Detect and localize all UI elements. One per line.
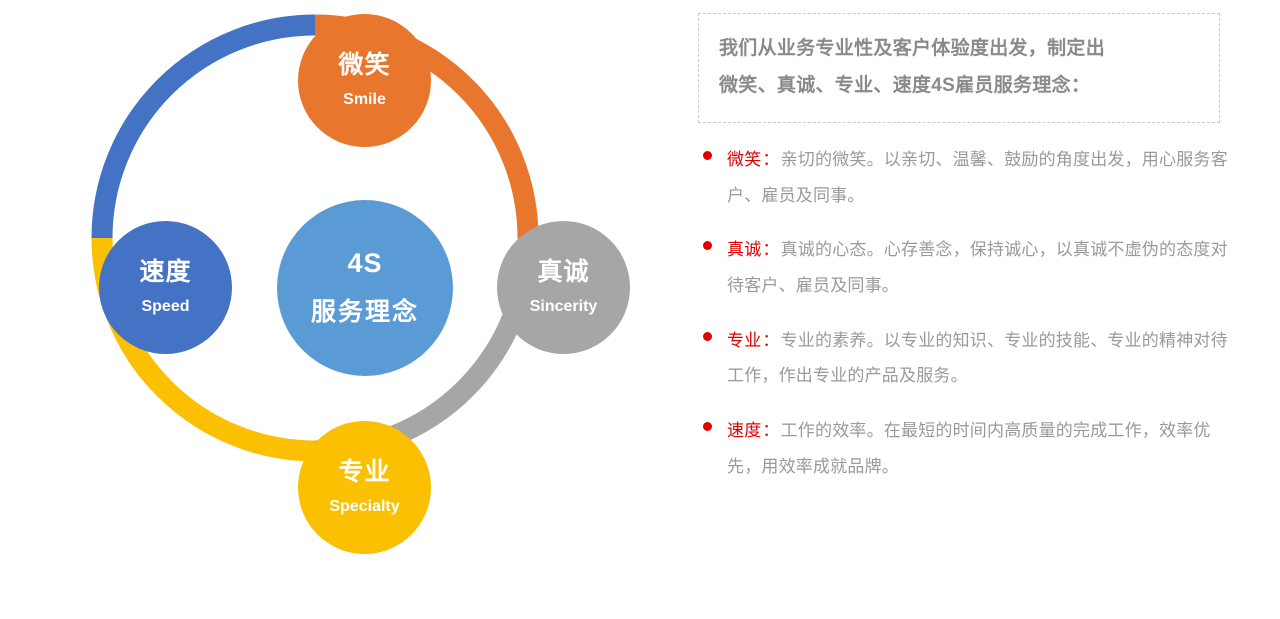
bullet-sep-sincerity: ： xyxy=(762,240,779,259)
node-specialty-label-cn: 专业 xyxy=(338,459,390,487)
node-specialty-label-en: Specialty xyxy=(329,498,399,516)
node-sincerity[interactable]: 真诚 Sincerity xyxy=(497,221,630,354)
center-subtitle: 服务理念 xyxy=(311,299,419,327)
node-smile-label-cn: 微笑 xyxy=(338,52,390,80)
bullet-dot-icon xyxy=(703,151,712,160)
node-specialty[interactable]: 专业 Specialty xyxy=(298,421,431,554)
bullet-text-sincerity: 真诚：真诚的心态。心存善念，保持诚心，以真诚不虚伪的态度对待客户、雇员及同事。 xyxy=(727,232,1230,303)
bullet-sep-smile: ： xyxy=(762,150,779,169)
bullet-item-speed: 速度：工作的效率。在最短的时间内高质量的完成工作，效率优先，用效率成就品牌。 xyxy=(700,413,1230,484)
bullet-dot-icon xyxy=(703,241,712,250)
description-panel: 我们从业务专业性及客户体验度出发，制定出 微笑、真诚、专业、速度4S雇员服务理念… xyxy=(695,0,1255,619)
node-smile[interactable]: 微笑 Smile xyxy=(298,14,431,147)
bullet-body-speed: 工作的效率。在最短的时间内高质量的完成工作，效率优先，用效率成就品牌。 xyxy=(727,421,1211,476)
bullet-item-smile: 微笑：亲切的微笑。以亲切、温馨、鼓励的角度出发，用心服务客户、雇员及同事。 xyxy=(700,142,1230,213)
headline-line-2: 微笑、真诚、专业、速度4S雇员服务理念： xyxy=(719,67,1201,104)
bullet-text-speed: 速度：工作的效率。在最短的时间内高质量的完成工作，效率优先，用效率成就品牌。 xyxy=(727,413,1230,484)
bullet-dot-icon xyxy=(703,422,712,431)
node-speed-label-en: Speed xyxy=(141,298,189,316)
bullet-body-sincerity: 真诚的心态。心存善念，保持诚心，以真诚不虚伪的态度对待客户、雇员及同事。 xyxy=(727,240,1228,295)
bullet-body-specialty: 专业的素养。以专业的知识、专业的技能、专业的精神对待工作，作出专业的产品及服务。 xyxy=(727,331,1228,386)
node-center-4s[interactable]: 4S 服务理念 xyxy=(277,200,453,376)
bullet-sep-speed: ： xyxy=(762,421,779,440)
bullet-dot-icon xyxy=(703,332,712,341)
node-speed[interactable]: 速度 Speed xyxy=(99,221,232,354)
headline-line-1: 我们从业务专业性及客户体验度出发，制定出 xyxy=(719,30,1201,67)
bullet-keyword-smile: 微笑 xyxy=(727,150,761,169)
page-root: 微笑 Smile 真诚 Sincerity 专业 Specialty 速度 Sp… xyxy=(0,0,1280,619)
bullet-list: 微笑：亲切的微笑。以亲切、温馨、鼓励的角度出发，用心服务客户、雇员及同事。 真诚… xyxy=(700,142,1230,504)
bullet-keyword-speed: 速度 xyxy=(727,421,761,440)
service-concept-diagram: 微笑 Smile 真诚 Sincerity 专业 Specialty 速度 Sp… xyxy=(0,0,670,619)
bullet-body-smile: 亲切的微笑。以亲切、温馨、鼓励的角度出发，用心服务客户、雇员及同事。 xyxy=(727,150,1228,205)
bullet-sep-specialty: ： xyxy=(762,331,779,350)
node-smile-label-en: Smile xyxy=(343,91,386,109)
ring-arc-top-left xyxy=(102,25,315,238)
headline-box: 我们从业务专业性及客户体验度出发，制定出 微笑、真诚、专业、速度4S雇员服务理念… xyxy=(698,13,1220,123)
bullet-text-specialty: 专业：专业的素养。以专业的知识、专业的技能、专业的精神对待工作，作出专业的产品及… xyxy=(727,323,1230,394)
bullet-keyword-specialty: 专业 xyxy=(727,331,761,350)
node-sincerity-label-en: Sincerity xyxy=(530,298,598,316)
node-sincerity-label-cn: 真诚 xyxy=(537,259,589,287)
bullet-keyword-sincerity: 真诚 xyxy=(727,240,761,259)
bullet-text-smile: 微笑：亲切的微笑。以亲切、温馨、鼓励的角度出发，用心服务客户、雇员及同事。 xyxy=(727,142,1230,213)
bullet-item-specialty: 专业：专业的素养。以专业的知识、专业的技能、专业的精神对待工作，作出专业的产品及… xyxy=(700,323,1230,394)
bullet-item-sincerity: 真诚：真诚的心态。心存善念，保持诚心，以真诚不虚伪的态度对待客户、雇员及同事。 xyxy=(700,232,1230,303)
node-speed-label-cn: 速度 xyxy=(139,259,191,287)
center-title: 4S xyxy=(347,249,382,279)
